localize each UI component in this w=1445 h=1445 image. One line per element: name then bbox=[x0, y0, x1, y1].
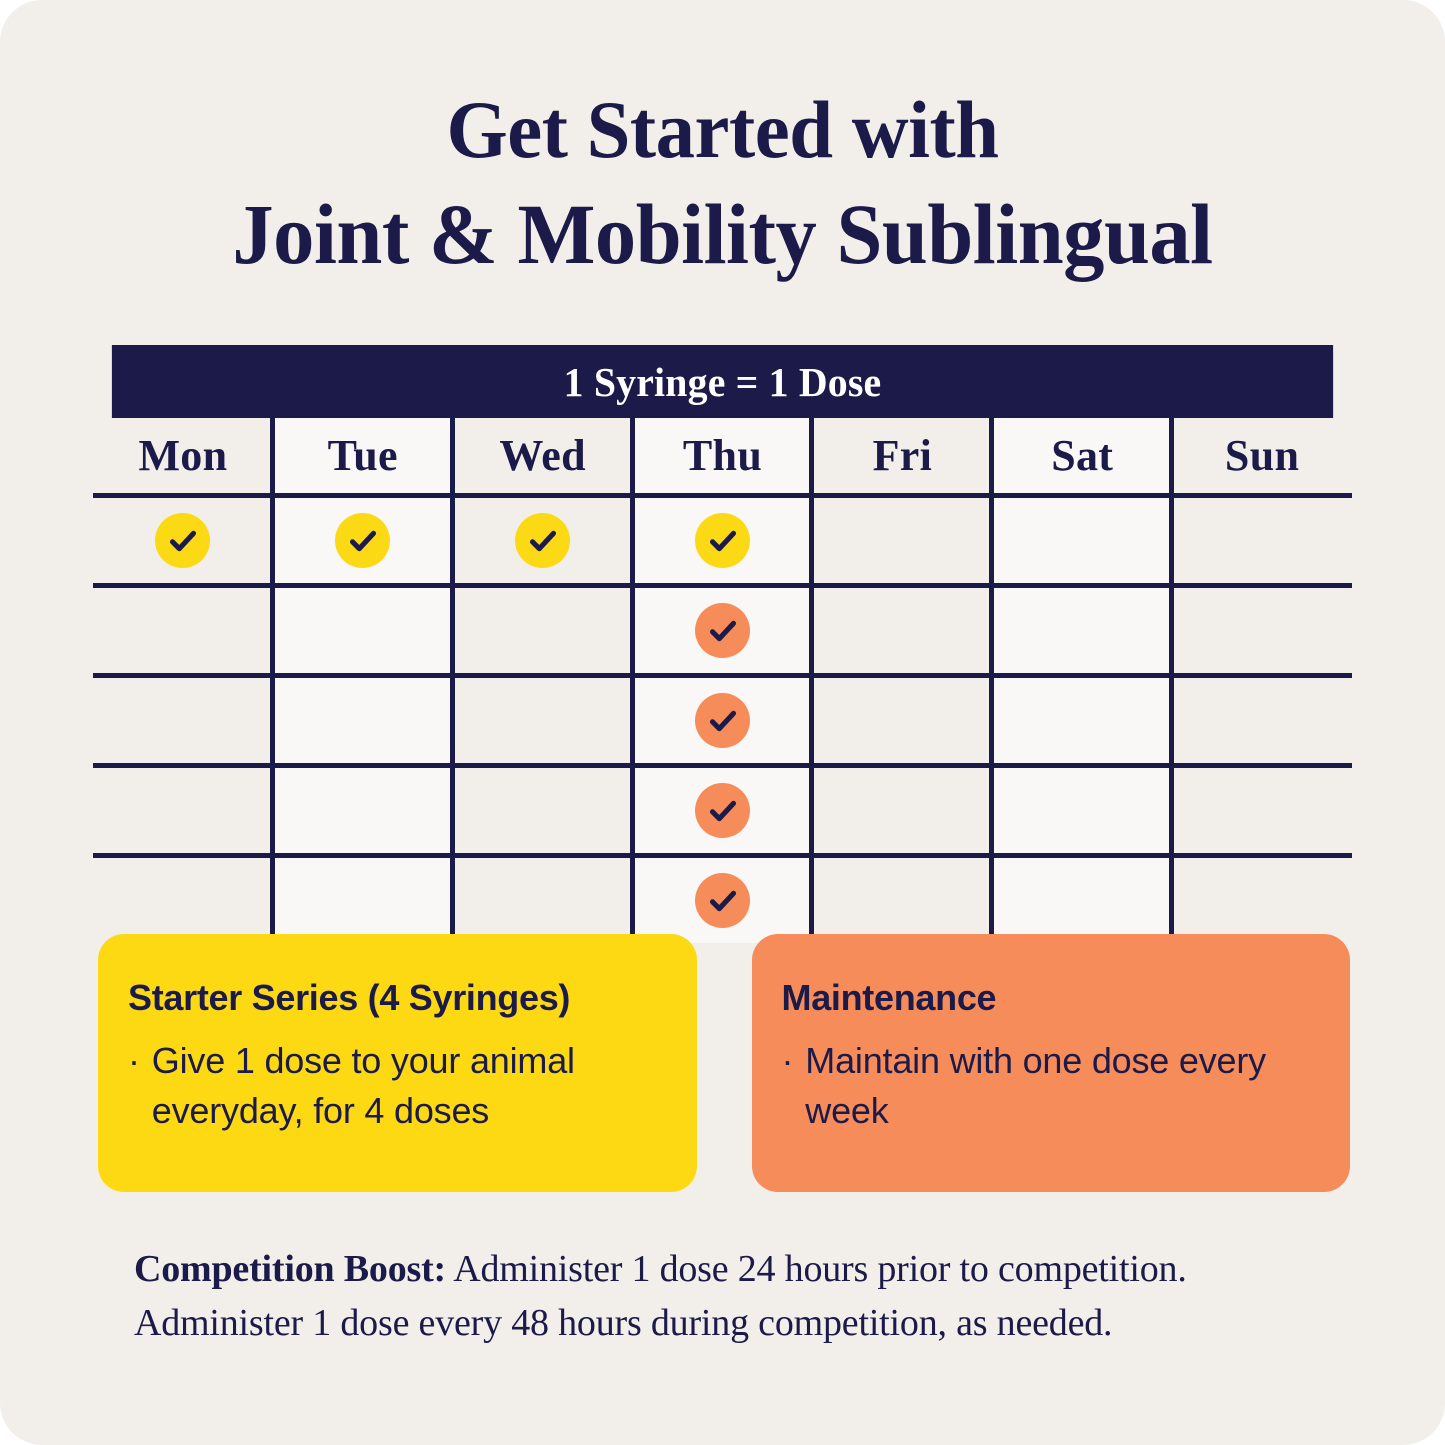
starter-series-heading: Starter Series (4 Syringes) bbox=[128, 976, 663, 1020]
cell-r4-tue[interactable] bbox=[273, 768, 453, 853]
check-icon bbox=[695, 783, 750, 838]
day-header-mon: Mon bbox=[93, 418, 273, 493]
cell-r3-thu[interactable] bbox=[633, 678, 813, 763]
cell-r4-mon[interactable] bbox=[93, 768, 273, 853]
cell-r1-sat[interactable] bbox=[992, 498, 1172, 583]
maintenance-bullet: · Maintain with one dose every week bbox=[782, 1036, 1317, 1136]
day-header-wed: Wed bbox=[453, 418, 633, 493]
day-header-row: Mon Tue Wed Thu Fri Sat Sun bbox=[93, 418, 1352, 493]
cell-r2-sat[interactable] bbox=[992, 588, 1172, 673]
table-row bbox=[93, 498, 1352, 583]
cell-r2-mon[interactable] bbox=[93, 588, 273, 673]
maintenance-bullet-text: Maintain with one dose every week bbox=[805, 1036, 1316, 1136]
cell-r5-sat[interactable] bbox=[992, 858, 1172, 943]
cell-r1-fri[interactable] bbox=[812, 498, 992, 583]
cell-r5-sun[interactable] bbox=[1172, 858, 1352, 943]
table-row bbox=[93, 768, 1352, 853]
page-title-line-2: Joint & Mobility Sublingual bbox=[87, 182, 1359, 286]
day-header-tue: Tue bbox=[273, 418, 453, 493]
bullet-dot-icon: · bbox=[782, 1036, 806, 1136]
dosing-schedule-table: 1 Syringe = 1 Dose Mon Tue Wed Thu Fri S… bbox=[93, 345, 1352, 943]
cell-r4-fri[interactable] bbox=[812, 768, 992, 853]
cell-r4-sun[interactable] bbox=[1172, 768, 1352, 853]
page-title-line-1: Get Started with bbox=[87, 78, 1359, 182]
day-header-wed-label: Wed bbox=[499, 430, 585, 481]
cell-r1-tue[interactable] bbox=[273, 498, 453, 583]
cell-r3-mon[interactable] bbox=[93, 678, 273, 763]
syringe-dose-banner-label: 1 Syringe = 1 Dose bbox=[564, 358, 882, 406]
day-header-thu: Thu bbox=[633, 418, 813, 493]
cell-r4-thu[interactable] bbox=[633, 768, 813, 853]
cell-r5-mon[interactable] bbox=[93, 858, 273, 943]
maintenance-heading: Maintenance bbox=[782, 976, 1317, 1020]
day-header-sun-label: Sun bbox=[1225, 430, 1299, 481]
cell-r3-tue[interactable] bbox=[273, 678, 453, 763]
cell-r3-sun[interactable] bbox=[1172, 678, 1352, 763]
cell-r1-thu[interactable] bbox=[633, 498, 813, 583]
day-header-tue-label: Tue bbox=[328, 430, 398, 481]
cell-r1-mon[interactable] bbox=[93, 498, 273, 583]
day-header-sat: Sat bbox=[992, 418, 1172, 493]
starter-series-bullet: · Give 1 dose to your animal everyday, f… bbox=[128, 1036, 663, 1136]
cell-r3-wed[interactable] bbox=[453, 678, 633, 763]
day-header-mon-label: Mon bbox=[138, 430, 227, 481]
cell-r4-wed[interactable] bbox=[453, 768, 633, 853]
check-icon bbox=[695, 693, 750, 748]
day-header-sun: Sun bbox=[1172, 418, 1352, 493]
check-icon bbox=[155, 513, 210, 568]
table-row bbox=[93, 858, 1352, 943]
cell-r5-tue[interactable] bbox=[273, 858, 453, 943]
cell-r5-wed[interactable] bbox=[453, 858, 633, 943]
check-icon bbox=[695, 513, 750, 568]
competition-boost-label: Competition Boost: bbox=[134, 1248, 446, 1290]
cell-r2-fri[interactable] bbox=[812, 588, 992, 673]
cell-r3-sat[interactable] bbox=[992, 678, 1172, 763]
cell-r5-thu[interactable] bbox=[633, 858, 813, 943]
starter-series-card: Starter Series (4 Syringes) · Give 1 dos… bbox=[98, 934, 697, 1192]
cell-r2-tue[interactable] bbox=[273, 588, 453, 673]
cell-r2-sun[interactable] bbox=[1172, 588, 1352, 673]
day-header-thu-label: Thu bbox=[683, 430, 762, 481]
cell-r1-wed[interactable] bbox=[453, 498, 633, 583]
info-card-group: Starter Series (4 Syringes) · Give 1 dos… bbox=[98, 934, 1350, 1192]
check-icon bbox=[335, 513, 390, 568]
table-row bbox=[93, 588, 1352, 673]
day-header-fri: Fri bbox=[812, 418, 992, 493]
cell-r2-thu[interactable] bbox=[633, 588, 813, 673]
table-row bbox=[93, 678, 1352, 763]
check-icon bbox=[695, 603, 750, 658]
check-icon bbox=[695, 873, 750, 928]
cell-r5-fri[interactable] bbox=[812, 858, 992, 943]
instruction-card: Get Started with Joint & Mobility Sublin… bbox=[0, 0, 1445, 1445]
bullet-dot-icon: · bbox=[128, 1036, 152, 1136]
cell-r1-sun[interactable] bbox=[1172, 498, 1352, 583]
maintenance-card: Maintenance · Maintain with one dose eve… bbox=[752, 934, 1351, 1192]
page-title: Get Started with Joint & Mobility Sublin… bbox=[87, 78, 1359, 286]
competition-boost-note: Competition Boost: Administer 1 dose 24 … bbox=[134, 1242, 1259, 1350]
day-header-sat-label: Sat bbox=[1051, 430, 1113, 481]
check-icon bbox=[515, 513, 570, 568]
cell-r4-sat[interactable] bbox=[992, 768, 1172, 853]
starter-series-bullet-text: Give 1 dose to your animal everyday, for… bbox=[152, 1036, 663, 1136]
day-header-fri-label: Fri bbox=[873, 430, 933, 481]
cell-r2-wed[interactable] bbox=[453, 588, 633, 673]
cell-r3-fri[interactable] bbox=[812, 678, 992, 763]
syringe-dose-banner: 1 Syringe = 1 Dose bbox=[112, 345, 1333, 418]
schedule-grid: Mon Tue Wed Thu Fri Sat Sun bbox=[93, 418, 1352, 943]
